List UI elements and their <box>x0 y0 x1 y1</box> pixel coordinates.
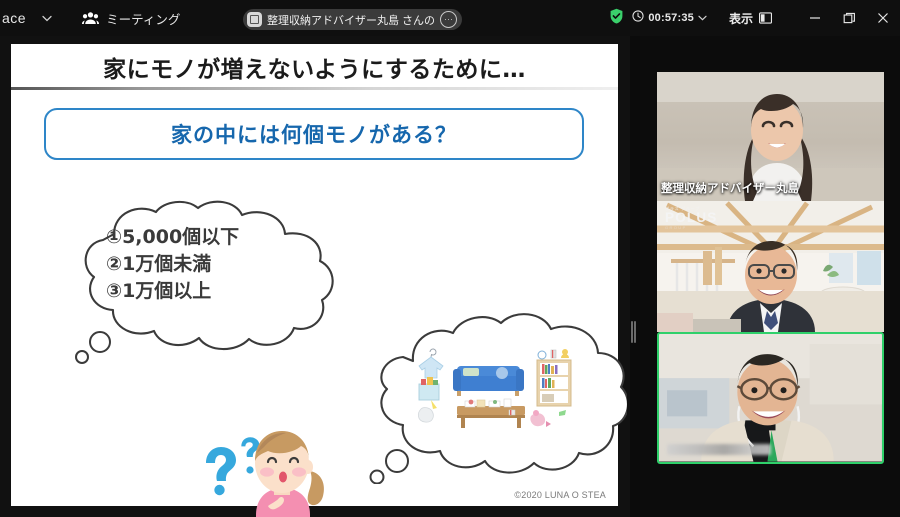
presentation-slide: 家にモノが増えないようにするために… 家の中には何個モノがある？ ①5,000個… <box>11 44 618 506</box>
chevron-down-icon[interactable] <box>38 9 56 27</box>
participant-video-rail: 整理収納アドバイザー丸島 <box>640 36 900 517</box>
meeting-label: ミーティング <box>106 9 180 28</box>
view-label: 表示 <box>729 10 753 27</box>
drag-handle-icon[interactable] <box>631 320 636 344</box>
cluttered-room-illustration <box>409 344 589 439</box>
thinking-woman-illustration <box>194 419 369 517</box>
layout-icon <box>759 12 772 24</box>
list-item: ①5,000個以下 <box>106 224 239 251</box>
meeting-indicator[interactable]: ミーティング <box>82 9 180 28</box>
participant-tile-3[interactable] <box>657 332 884 464</box>
clock-icon <box>632 9 644 27</box>
list-item: ②1万個未満 <box>106 251 239 278</box>
view-button[interactable]: 表示 <box>729 10 772 27</box>
question-box-label: 家の中には何個モノがある？ <box>171 119 457 149</box>
polus-watermark-main: POLUS <box>665 211 723 225</box>
people-icon <box>82 11 99 25</box>
screen-share-icon <box>247 12 262 27</box>
title-divider <box>11 87 618 90</box>
meeting-top-bar: ace ミーティング 整理 <box>0 0 900 36</box>
page-title: 家にモノが増えないようにするために… <box>11 50 618 84</box>
options-list: ①5,000個以下 ②1万個未満 ③1万個以上 <box>106 224 239 305</box>
participant-tile-1[interactable]: 整理収納アドバイザー丸島 <box>657 72 884 201</box>
screen-share-banner[interactable]: 整理収納アドバイザー丸島 さんの <box>243 9 462 30</box>
close-button[interactable] <box>866 0 900 36</box>
shared-content-stage[interactable]: 家にモノが増えないようにするために… 家の中には何個モノがある？ ①5,000個… <box>0 36 630 517</box>
participant-tile-2[interactable]: ポラス グループ POLUS GROUP <box>657 201 884 332</box>
minimize-button[interactable] <box>798 0 832 36</box>
thought-bubble-options: ①5,000個以下 ②1万個未満 ③1万個以上 <box>56 199 366 364</box>
participant-name-label-redacted <box>667 444 771 455</box>
top-bar-left-group: ace ミーティング <box>0 9 180 28</box>
chevron-down-icon[interactable] <box>698 15 707 21</box>
participant-name-label: 整理収納アドバイザー丸島 <box>657 179 803 197</box>
app-name-label: ace <box>0 10 26 26</box>
meeting-timer[interactable]: 00:57:35 <box>632 9 707 27</box>
copyright-text: ©2020 LUNA O STEA <box>514 490 606 500</box>
polus-watermark-bottom: GROUP <box>665 225 723 230</box>
restore-window-button[interactable] <box>832 0 866 36</box>
top-bar-right-group: 00:57:35 表示 <box>609 0 900 36</box>
more-options-icon[interactable] <box>440 11 457 28</box>
polus-watermark: ポラス グループ POLUS GROUP <box>665 206 723 230</box>
shield-check-icon <box>609 8 632 29</box>
list-item: ③1万個以上 <box>106 278 239 305</box>
screen-share-text: 整理収納アドバイザー丸島 さんの <box>267 12 435 28</box>
timer-value: 00:57:35 <box>648 12 694 24</box>
question-box: 家の中には何個モノがある？ <box>44 108 584 160</box>
teams-meeting-window: ace ミーティング 整理 <box>0 0 900 517</box>
